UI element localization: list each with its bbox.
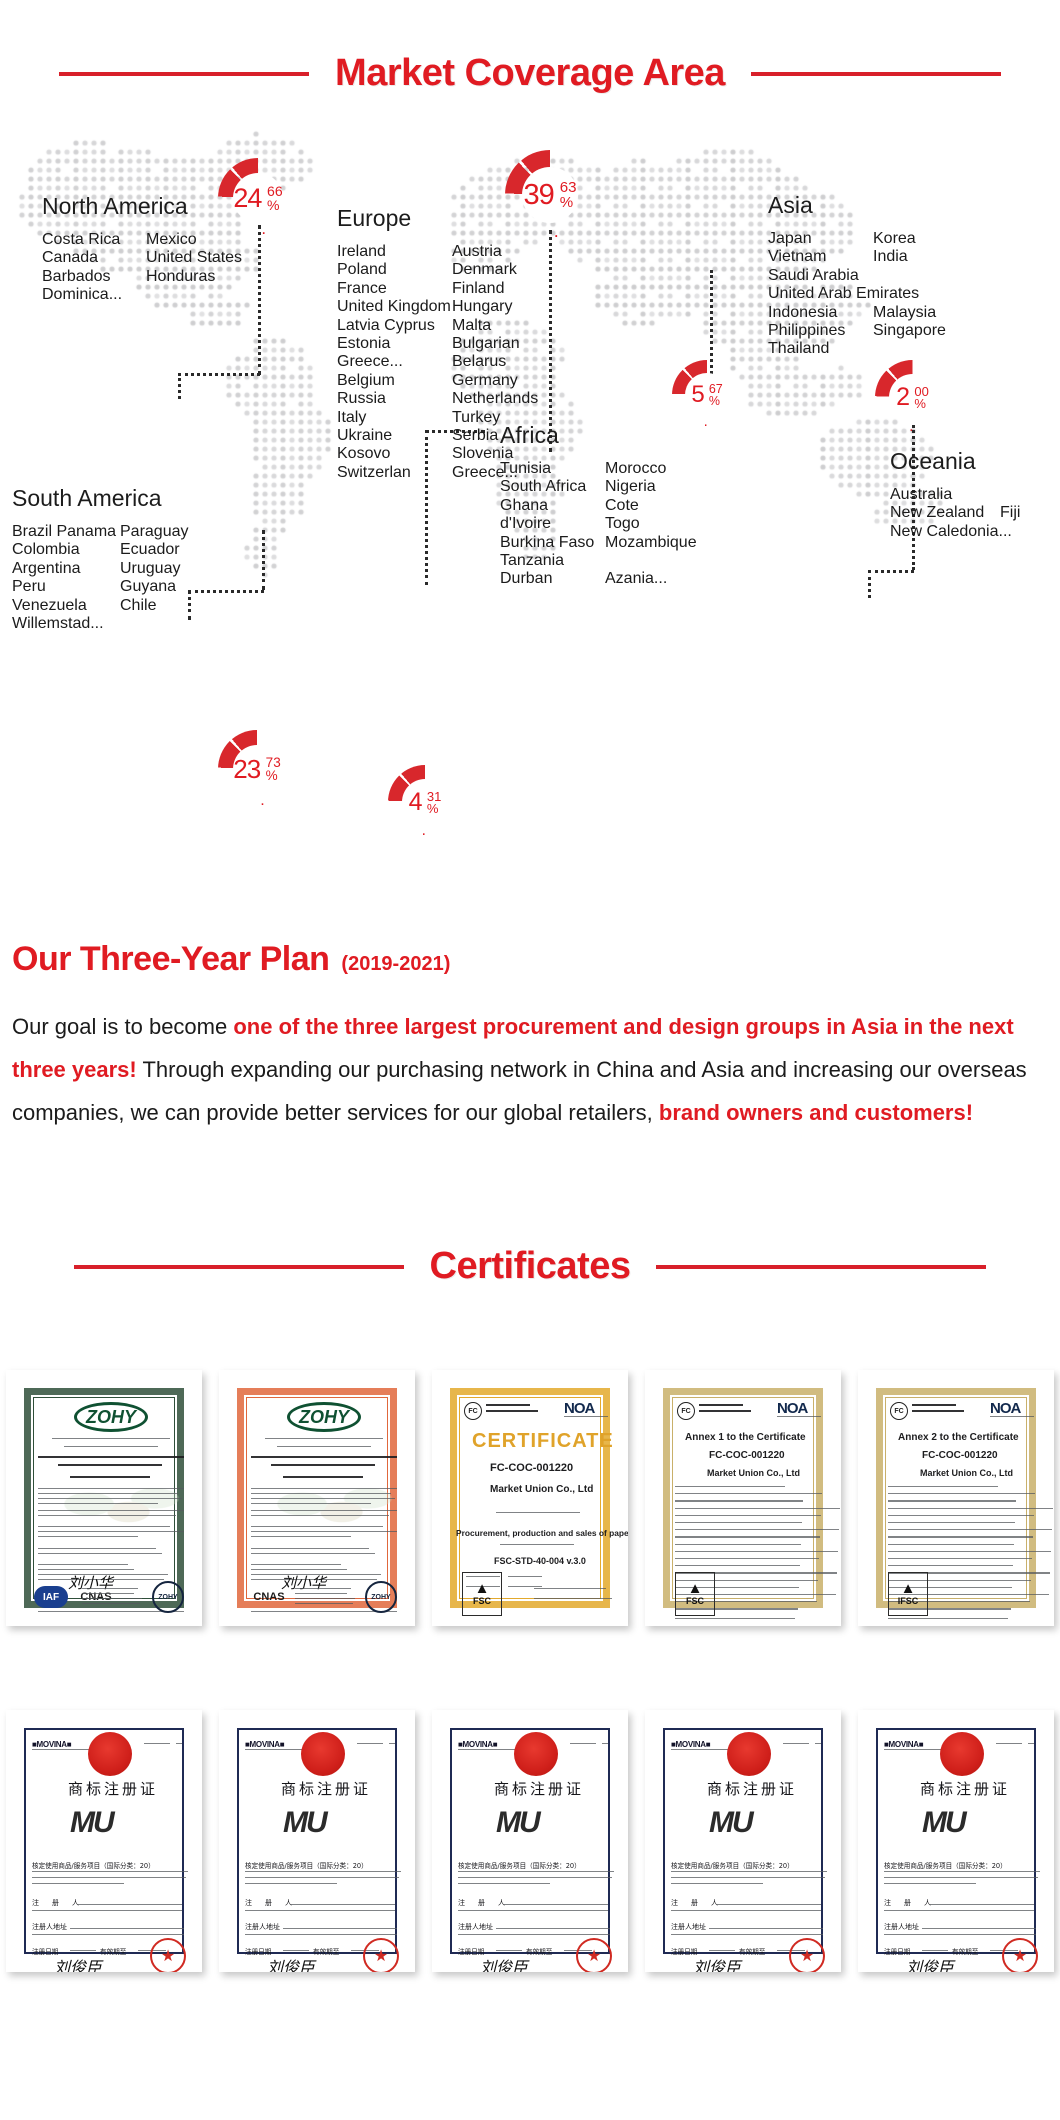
cert-text-line bbox=[458, 1934, 610, 1935]
country-column-oc-1: Australia New Zealand New Caledonia... bbox=[890, 486, 1000, 541]
cert-text-line bbox=[458, 1883, 550, 1884]
country-item: Vietnam bbox=[768, 248, 873, 266]
trademark-certificate-card-3[interactable]: ■MOVINA■商标注册证MU核定使用商品/服务项目（国际分类：20）注 册 人… bbox=[432, 1710, 628, 1972]
cert-text-line bbox=[251, 1498, 395, 1499]
cert-text-line bbox=[496, 1512, 580, 1513]
country-item: Kosovo bbox=[337, 445, 452, 463]
cert-text-line bbox=[717, 1904, 821, 1905]
donut-dot: . bbox=[260, 792, 264, 808]
cert-text-line bbox=[82, 1598, 142, 1599]
cert-text-line bbox=[82, 1603, 140, 1604]
cert-text-line bbox=[295, 1598, 355, 1599]
leader-north-america-v2 bbox=[178, 373, 181, 399]
leader-north-america-v bbox=[258, 225, 261, 375]
country-column-sa-2: Paraguay Ecuador Uruguay Guyana Chile bbox=[120, 523, 189, 633]
cert-text-line bbox=[496, 1928, 610, 1929]
validity-label: 有效期至 bbox=[952, 1946, 978, 1956]
cert-text-line bbox=[251, 1456, 397, 1458]
registrant-address-label: 注册人地址 bbox=[32, 1922, 67, 1932]
cert-text-line bbox=[38, 1515, 176, 1516]
cert-text-line bbox=[291, 1904, 395, 1905]
cert-text-line bbox=[38, 1503, 158, 1504]
donut-value-oceania: 2.00% bbox=[875, 360, 950, 435]
country-item: Dominica... bbox=[42, 286, 146, 304]
country-item: Peru bbox=[12, 578, 120, 596]
registrant-address-label: 注册人地址 bbox=[245, 1922, 280, 1932]
country-item: India bbox=[873, 248, 946, 266]
cert-text-line bbox=[486, 1410, 538, 1412]
cert-text-line bbox=[675, 1544, 801, 1545]
country-item: South Africa bbox=[500, 478, 605, 496]
cert-text-line bbox=[389, 1743, 395, 1744]
certificate-main-title: CERTIFICATE bbox=[472, 1430, 614, 1453]
country-item: Saudi Arabia bbox=[768, 267, 873, 285]
certificate-code: FC-COC-001220 bbox=[490, 1462, 573, 1474]
cert-text-line bbox=[496, 1950, 522, 1951]
trademark-certificate-card-2[interactable]: ■MOVINA■商标注册证MU核定使用商品/服务项目（国际分类：20）注 册 人… bbox=[219, 1710, 415, 1972]
country-item: Poland bbox=[337, 261, 452, 279]
heading-rule-right bbox=[751, 72, 1001, 76]
country-item-spacer bbox=[873, 285, 946, 303]
national-emblem-icon bbox=[940, 1732, 984, 1776]
country-item: Italy bbox=[337, 409, 452, 427]
region-oceania: Oceania Australia New Zealand New Caledo… bbox=[890, 448, 1020, 541]
cert-text-line bbox=[564, 1416, 608, 1417]
official-red-seal-icon: ★ bbox=[150, 1938, 186, 1972]
trademark-certificate-title: 商标注册证 bbox=[707, 1778, 797, 1799]
cert-text-line bbox=[504, 1904, 608, 1905]
certificate-page: ■MOVINA■商标注册证MU核定使用商品/服务项目（国际分类：20）注 册 人… bbox=[864, 1716, 1048, 1966]
cert-text-line bbox=[675, 1493, 822, 1494]
country-column-na-2: Mexico United States Honduras bbox=[146, 231, 242, 305]
country-item: Australia bbox=[890, 486, 1000, 504]
country-item: Cote bbox=[605, 497, 697, 515]
country-item: Venezuela bbox=[12, 597, 120, 615]
official-red-seal-icon: ★ bbox=[1002, 1938, 1038, 1972]
cert-text-line bbox=[32, 1883, 124, 1884]
plan-title: Our Three-Year Plan bbox=[12, 940, 329, 979]
trademark-certificate-title: 商标注册证 bbox=[920, 1778, 1010, 1799]
donut-percent-sign: % bbox=[267, 198, 279, 212]
country-column-as-1: Japan Vietnam Saudi Arabia United Arab E… bbox=[768, 230, 873, 359]
cert-text-line bbox=[78, 1904, 182, 1905]
plan-years: (2019-2021) bbox=[341, 953, 450, 976]
director-signature: 刘俊臣 bbox=[267, 1954, 315, 1972]
certificate-card-zohy-2[interactable]: ZOHY刘小华CNASZOHY bbox=[219, 1370, 415, 1626]
donut-int: 24 bbox=[233, 185, 261, 212]
cert-text-line bbox=[1028, 1743, 1034, 1744]
forest-certification-icon: FC bbox=[677, 1402, 695, 1420]
cert-text-line bbox=[176, 1743, 182, 1744]
cert-text-line bbox=[251, 1548, 369, 1549]
country-item: Hungary bbox=[452, 298, 538, 316]
country-item: Mozambique bbox=[605, 534, 697, 552]
country-item: Greece... bbox=[337, 353, 452, 371]
cert-text-line bbox=[675, 1558, 819, 1559]
cert-text-line bbox=[38, 1569, 134, 1570]
mu-trademark-logo: MU bbox=[922, 1806, 965, 1840]
cnas-badge-icon: CNAS bbox=[247, 1585, 291, 1609]
registrant-address-label: 注册人地址 bbox=[671, 1922, 706, 1932]
country-column-sa-1: Brazil Panama Colombia Argentina Peru Ve… bbox=[12, 523, 120, 633]
cert-text-line bbox=[888, 1529, 1052, 1530]
country-item: Latvia Cyprus bbox=[337, 317, 452, 335]
cert-text-line bbox=[245, 1749, 303, 1750]
cert-text-line bbox=[675, 1529, 839, 1530]
national-emblem-icon bbox=[301, 1732, 345, 1776]
cert-text-line bbox=[996, 1743, 1022, 1744]
certificate-inner-rule bbox=[672, 1397, 814, 1599]
cert-text-line bbox=[534, 1588, 606, 1589]
trademark-certificate-card-4[interactable]: ■MOVINA■商标注册证MU核定使用商品/服务项目（国际分类：20）注 册 人… bbox=[645, 1710, 841, 1972]
validity-label: 有效期至 bbox=[526, 1946, 552, 1956]
trademark-class-label: 核定使用商品/服务项目（国际分类：20） bbox=[32, 1860, 155, 1870]
cert-text-line bbox=[888, 1508, 1053, 1509]
country-item: Barbados bbox=[42, 268, 146, 286]
trademark-office-header: ■MOVINA■ bbox=[245, 1740, 284, 1749]
fsc-logo-icon: ▲FSC bbox=[462, 1572, 502, 1616]
director-signature: 刘俊臣 bbox=[906, 1954, 954, 1972]
certificate-page: FCNOAAnnex 1 to the CertificateFC-COC-00… bbox=[651, 1376, 835, 1620]
donut-percent-sign: % bbox=[709, 395, 720, 407]
zohy-seal-icon: ZOHY bbox=[152, 1581, 184, 1613]
certificate-card-fsc-annex-5[interactable]: FCNOAAnnex 2 to the CertificateFC-COC-00… bbox=[858, 1370, 1054, 1626]
validity-label: 有效期至 bbox=[739, 1946, 765, 1956]
trademark-certificate-title: 商标注册证 bbox=[68, 1778, 158, 1799]
trademark-office-header: ■MOVINA■ bbox=[671, 1740, 710, 1749]
country-item: Brazil Panama bbox=[12, 523, 120, 541]
three-year-plan-section: Our Three-Year Plan (2019-2021) Our goal… bbox=[12, 940, 1052, 1134]
country-item: Canada bbox=[42, 249, 146, 267]
country-item: Paraguay bbox=[120, 523, 189, 541]
certificates-title: Certificates bbox=[430, 1245, 631, 1288]
cert-text-line bbox=[283, 1928, 397, 1929]
country-item: United Kingdom bbox=[337, 298, 452, 316]
country-item: Malaysia bbox=[873, 304, 946, 322]
country-item: Ireland bbox=[337, 243, 452, 261]
certificate-row-bottom: ■MOVINA■商标注册证MU核定使用商品/服务项目（国际分类：20）注 册 人… bbox=[0, 1710, 1060, 1972]
mu-trademark-logo: MU bbox=[496, 1806, 539, 1840]
certificate-page: ZOHY刘小华CNASZOHY bbox=[225, 1376, 409, 1620]
cert-text-line bbox=[251, 1526, 383, 1527]
cert-text-line bbox=[70, 1476, 150, 1478]
country-item: Fiji bbox=[1000, 504, 1020, 522]
official-red-seal-icon: ★ bbox=[363, 1938, 399, 1972]
national-emblem-icon bbox=[727, 1732, 771, 1776]
cert-text-line bbox=[888, 1558, 1032, 1559]
country-item: Costa Rica bbox=[42, 231, 146, 249]
cert-text-line bbox=[884, 1910, 1034, 1911]
cert-text-line bbox=[265, 1438, 383, 1439]
plan-heading-row: Our Three-Year Plan (2019-2021) bbox=[12, 940, 1052, 979]
national-emblem-icon bbox=[88, 1732, 132, 1776]
cert-text-line bbox=[251, 1564, 341, 1565]
country-column-oc-2: Fiji bbox=[1000, 486, 1020, 541]
cert-text-line bbox=[38, 1456, 184, 1458]
country-item: Guyana bbox=[120, 578, 189, 596]
cert-text-line bbox=[245, 1934, 397, 1935]
cert-text-line bbox=[912, 1404, 956, 1406]
cert-text-line bbox=[930, 1904, 1034, 1905]
certificate-row-top: ZOHY刘小华IAFCNASZOHYZOHY刘小华CNASZOHYFCNOACE… bbox=[0, 1370, 1060, 1626]
cert-text-line bbox=[675, 1508, 840, 1509]
cert-text-line bbox=[922, 1928, 1036, 1929]
cert-text-line bbox=[783, 1743, 809, 1744]
cert-text-line bbox=[38, 1548, 156, 1549]
mu-trademark-logo: MU bbox=[709, 1806, 752, 1840]
cert-text-line bbox=[508, 1576, 542, 1577]
zohy-logo: ZOHY bbox=[287, 1402, 361, 1432]
donut-int: 23 bbox=[233, 756, 260, 782]
cert-text-line bbox=[277, 1446, 371, 1447]
cert-text-line bbox=[884, 1883, 976, 1884]
cert-text-line bbox=[671, 1883, 763, 1884]
cert-text-line bbox=[251, 1510, 397, 1511]
donut-value-south-america: 23.73% bbox=[218, 730, 296, 808]
donut-dot: . bbox=[554, 222, 559, 240]
official-red-seal-icon: ★ bbox=[576, 1938, 612, 1972]
country-item: Philippines bbox=[768, 322, 873, 340]
cert-text-line bbox=[38, 1493, 178, 1494]
cert-text-line bbox=[52, 1438, 170, 1439]
donut-value-europe: 39.63% bbox=[505, 150, 595, 240]
country-item: Tunisia bbox=[500, 460, 605, 478]
cert-text-line bbox=[671, 1871, 827, 1872]
registrant-label: 注 册 人 bbox=[671, 1898, 721, 1908]
cert-text-line bbox=[38, 1526, 170, 1527]
certificate-scope: Procurement, production and sales of pap… bbox=[456, 1528, 628, 1538]
certificate-annex-title: Annex 1 to the Certificate bbox=[685, 1432, 806, 1443]
cert-text-line bbox=[458, 1749, 516, 1750]
director-signature: 刘俊臣 bbox=[693, 1954, 741, 1972]
donut-value-asia: 5.67% bbox=[672, 360, 742, 430]
cert-text-line bbox=[709, 1928, 823, 1929]
cert-text-line bbox=[888, 1536, 1033, 1537]
country-item-spacer bbox=[1000, 486, 1020, 504]
cert-text-line bbox=[671, 1749, 729, 1750]
country-item: Germany bbox=[452, 372, 538, 390]
certificate-page: ■MOVINA■商标注册证MU核定使用商品/服务项目（国际分类：20）注 册 人… bbox=[438, 1716, 622, 1966]
country-item: Korea bbox=[873, 230, 946, 248]
country-item: New Caledonia... bbox=[890, 523, 1000, 541]
certificate-card-zohy-1[interactable]: ZOHY刘小华IAFCNASZOHY bbox=[6, 1370, 202, 1626]
cert-text-line bbox=[671, 1877, 825, 1878]
cert-text-line bbox=[38, 1564, 128, 1565]
cert-text-line bbox=[251, 1531, 397, 1532]
cert-text-line bbox=[570, 1743, 596, 1744]
cert-text-line bbox=[32, 1749, 90, 1750]
country-column-eu-1: Ireland Poland France United Kingdom Lat… bbox=[337, 243, 452, 482]
registrant-label: 注 册 人 bbox=[458, 1898, 508, 1908]
cert-text-line bbox=[675, 1551, 838, 1552]
country-item: Azania... bbox=[605, 570, 697, 588]
fsc-logo-icon: ▲IFSC bbox=[888, 1572, 928, 1616]
country-item: United Arab Emirates bbox=[768, 285, 873, 303]
region-label-asia: Asia bbox=[768, 192, 946, 219]
cert-text-line bbox=[38, 1498, 182, 1499]
country-item: France bbox=[337, 280, 452, 298]
certificate-inner-rule bbox=[885, 1397, 1027, 1599]
plan-emphasis-2: brand owners and customers! bbox=[659, 1100, 973, 1125]
mu-trademark-logo: MU bbox=[283, 1806, 326, 1840]
forest-certification-icon: FC bbox=[890, 1402, 908, 1420]
registrant-label: 注 册 人 bbox=[245, 1898, 295, 1908]
country-item: Uruguay bbox=[120, 560, 189, 578]
national-emblem-icon bbox=[514, 1732, 558, 1776]
cert-text-line bbox=[675, 1486, 785, 1487]
country-column-na-1: Costa Rica Canada Barbados Dominica... bbox=[42, 231, 146, 305]
registrant-address-label: 注册人地址 bbox=[458, 1922, 493, 1932]
cert-text-line bbox=[82, 1593, 134, 1594]
cert-text-line bbox=[675, 1536, 820, 1537]
certificate-company: Market Union Co., Ltd bbox=[707, 1468, 800, 1478]
cert-text-line bbox=[82, 1588, 138, 1589]
registrant-label: 注 册 人 bbox=[884, 1898, 934, 1908]
region-south-america: South America Brazil Panama Colombia Arg… bbox=[12, 485, 189, 633]
registrant-address-label: 注册人地址 bbox=[884, 1922, 919, 1932]
country-item: Estonia bbox=[337, 335, 452, 353]
country-item: Durban bbox=[500, 570, 605, 588]
trademark-certificate-title: 商标注册证 bbox=[494, 1778, 584, 1799]
cert-text-line bbox=[38, 1553, 162, 1554]
donut-percent-sign: % bbox=[560, 195, 573, 210]
cert-text-line bbox=[271, 1464, 375, 1466]
leader-oceania-h bbox=[868, 570, 914, 573]
country-column-af-2: Morocco Nigeria Cote Togo Mozambique Aza… bbox=[605, 460, 697, 589]
donut-value-africa: 4.31% bbox=[388, 765, 462, 839]
cert-text-line bbox=[70, 1928, 184, 1929]
certificate-card-fsc-annex-4[interactable]: FCNOAAnnex 1 to the CertificateFC-COC-00… bbox=[645, 1370, 841, 1626]
cert-text-line bbox=[888, 1618, 1008, 1619]
cert-text-line bbox=[534, 1598, 612, 1599]
country-item: Colombia bbox=[12, 541, 120, 559]
cert-text-line bbox=[64, 1446, 158, 1447]
certificate-standard: FSC-STD-40-004 v.3.0 bbox=[494, 1556, 586, 1566]
trademark-certificate-card-1[interactable]: ■MOVINA■商标注册证MU核定使用商品/服务项目（国际分类：20）注 册 人… bbox=[6, 1710, 202, 1972]
certificate-page: FCNOACERTIFICATEFC-COC-001220Market Unio… bbox=[438, 1376, 622, 1620]
trademark-office-header: ■MOVINA■ bbox=[884, 1740, 923, 1749]
country-item: United States bbox=[146, 249, 242, 267]
country-item: Honduras bbox=[146, 268, 242, 286]
country-item: Morocco bbox=[605, 460, 697, 478]
cert-text-line bbox=[500, 1544, 574, 1545]
certificate-code: FC-COC-001220 bbox=[709, 1450, 785, 1461]
noa-logo: NOA bbox=[777, 1400, 807, 1417]
page-title: Market Coverage Area bbox=[335, 52, 725, 95]
noa-logo: NOA bbox=[564, 1400, 594, 1417]
country-item: Argentina bbox=[12, 560, 120, 578]
country-item: d'Ivoire bbox=[500, 515, 605, 533]
donut-dot: . bbox=[261, 221, 266, 238]
country-item: Ukraine bbox=[337, 427, 452, 445]
cert-text-line bbox=[245, 1910, 395, 1911]
trademark-certificate-card-5[interactable]: ■MOVINA■商标注册证MU核定使用商品/服务项目（国际分类：20）注 册 人… bbox=[858, 1710, 1054, 1972]
cert-text-line bbox=[675, 1565, 800, 1566]
trademark-class-label: 核定使用商品/服务项目（国际分类：20） bbox=[245, 1860, 368, 1870]
country-item: Switzerlan bbox=[337, 464, 452, 482]
donut-dot: . bbox=[422, 823, 426, 839]
plan-text-1: Our goal is to become bbox=[12, 1014, 233, 1039]
cert-text-line bbox=[888, 1565, 1013, 1566]
mu-trademark-logo: MU bbox=[70, 1806, 113, 1840]
country-item: Nigeria bbox=[605, 478, 697, 496]
cert-text-line bbox=[295, 1593, 347, 1594]
certificate-annex-title: Annex 2 to the Certificate bbox=[898, 1432, 1019, 1443]
iaf-badge-icon: IAF bbox=[34, 1586, 68, 1608]
trademark-office-header: ■MOVINA■ bbox=[458, 1740, 497, 1749]
cert-text-line bbox=[251, 1488, 397, 1489]
fsc-logo-icon: ▲FSC bbox=[675, 1572, 715, 1616]
cert-text-line bbox=[990, 1416, 1034, 1417]
country-item: New Zealand bbox=[890, 504, 1000, 522]
certificate-card-fsc-main-3[interactable]: FCNOACERTIFICATEFC-COC-001220Market Unio… bbox=[432, 1370, 628, 1626]
donut-value-north-america: 24.66% bbox=[218, 158, 298, 238]
director-signature: 刘俊臣 bbox=[54, 1954, 102, 1972]
cert-text-line bbox=[486, 1404, 530, 1406]
leader-oceania-v2 bbox=[868, 570, 871, 598]
region-africa: Africa Tunisia South Africa Ghana d'Ivoi… bbox=[500, 422, 697, 589]
country-item: Willemstad... bbox=[12, 615, 120, 633]
region-asia: Asia Japan Vietnam Saudi Arabia United A… bbox=[768, 192, 946, 359]
country-item: Malta bbox=[452, 317, 538, 335]
cert-text-line bbox=[32, 1871, 188, 1872]
official-red-seal-icon: ★ bbox=[789, 1938, 825, 1972]
zohy-seal-icon: ZOHY bbox=[365, 1581, 397, 1613]
certificate-company: Market Union Co., Ltd bbox=[490, 1484, 593, 1495]
cert-text-line bbox=[675, 1618, 795, 1619]
cert-text-line bbox=[888, 1522, 1015, 1523]
country-item: Belarus bbox=[452, 353, 538, 371]
country-item: Austria bbox=[452, 243, 538, 261]
cert-text-line bbox=[884, 1934, 1036, 1935]
donut-percent-sign: % bbox=[914, 397, 926, 410]
cert-text-line bbox=[458, 1910, 608, 1911]
cert-text-line bbox=[245, 1871, 401, 1872]
cert-text-line bbox=[699, 1410, 751, 1412]
donut-dot: . bbox=[704, 415, 708, 430]
donut-percent-sign: % bbox=[427, 802, 439, 815]
cert-text-line bbox=[888, 1500, 1016, 1501]
cert-text-line bbox=[888, 1486, 998, 1487]
country-column-af-1: Tunisia South Africa Ghana d'Ivoire Burk… bbox=[500, 460, 605, 589]
donut-int: 4 bbox=[409, 790, 422, 815]
donut-south-america: 23.73% bbox=[218, 730, 296, 808]
cert-rule-left bbox=[74, 1265, 404, 1269]
country-item: Singapore bbox=[873, 322, 946, 340]
region-label-south-america: South America bbox=[12, 485, 189, 512]
cert-text-line bbox=[251, 1536, 351, 1537]
country-item: Burkina Faso bbox=[500, 534, 605, 552]
validity-label: 有效期至 bbox=[100, 1946, 126, 1956]
cert-text-line bbox=[777, 1416, 821, 1417]
donut-asia: 5.67% bbox=[672, 360, 742, 430]
certificates-heading: Certificates bbox=[0, 1245, 1060, 1288]
cert-text-line bbox=[283, 1476, 363, 1478]
certificate-company: Market Union Co., Ltd bbox=[920, 1468, 1013, 1478]
cert-text-line bbox=[38, 1536, 138, 1537]
leader-europe-v bbox=[549, 230, 552, 452]
zohy-logo: ZOHY bbox=[74, 1402, 148, 1432]
cert-text-line bbox=[357, 1743, 383, 1744]
world-map-panel: North America Costa Rica Canada Barbados… bbox=[0, 130, 1060, 900]
leader-north-america-h bbox=[178, 373, 260, 376]
country-column-as-2: Korea India Malaysia Singapore bbox=[873, 230, 946, 359]
cert-text-line bbox=[251, 1515, 389, 1516]
cert-text-line bbox=[32, 1877, 186, 1878]
donut-int: 2 bbox=[896, 385, 909, 410]
country-item: Russia bbox=[337, 390, 452, 408]
country-item: Ghana bbox=[500, 497, 605, 515]
